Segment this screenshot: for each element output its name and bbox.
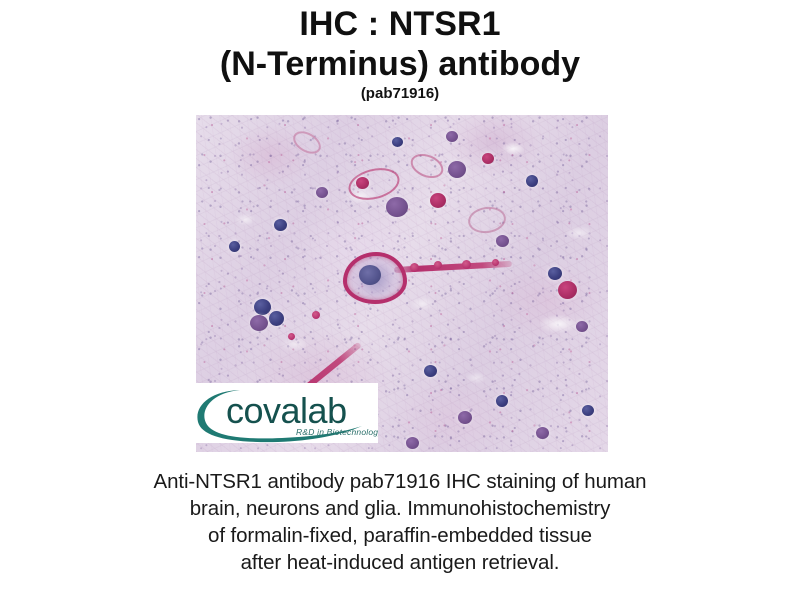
neuron-nucleus bbox=[359, 265, 381, 285]
glial-nucleus bbox=[250, 315, 268, 331]
covalab-logo: covalab R&D in Biotechnology bbox=[196, 383, 378, 443]
glial-nucleus bbox=[254, 299, 271, 315]
glial-nucleus bbox=[548, 267, 562, 280]
stained-soma bbox=[430, 193, 446, 208]
vessel-outline bbox=[407, 149, 447, 182]
glial-nucleus bbox=[406, 437, 419, 449]
covalab-logo-svg: covalab R&D in Biotechnology bbox=[196, 383, 378, 443]
glial-nucleus bbox=[446, 131, 458, 142]
stained-soma bbox=[558, 281, 577, 299]
caption-line-1: Anti-NTSR1 antibody pab71916 IHC stainin… bbox=[0, 468, 800, 495]
vessel-outline bbox=[345, 163, 403, 205]
glial-nucleus bbox=[496, 235, 509, 247]
stained-soma bbox=[482, 153, 494, 164]
glial-nucleus bbox=[576, 321, 588, 332]
glial-nucleus bbox=[526, 175, 538, 187]
stained-soma bbox=[356, 177, 369, 189]
neuron-axon bbox=[394, 261, 512, 273]
glial-nucleus bbox=[458, 411, 472, 424]
glial-nucleus bbox=[392, 137, 403, 147]
glial-nucleus bbox=[229, 241, 240, 252]
glial-nucleus bbox=[424, 365, 437, 377]
caption-line-2: brain, neurons and glia. Immunohistochem… bbox=[0, 495, 800, 522]
stained-soma bbox=[448, 161, 466, 178]
glial-nucleus bbox=[269, 311, 284, 326]
immunostained-neuron-soma bbox=[343, 252, 407, 304]
glial-nucleus bbox=[536, 427, 549, 439]
caption-line-4: after heat-induced antigen retrieval. bbox=[0, 549, 800, 576]
glial-nucleus bbox=[496, 395, 508, 407]
axon-varicosity bbox=[462, 260, 471, 269]
page-title-line-2: (N-Terminus) antibody bbox=[0, 44, 800, 84]
glial-nucleus bbox=[316, 187, 328, 198]
logo-tagline: R&D in Biotechnology bbox=[296, 427, 378, 437]
catalog-code: (pab71916) bbox=[0, 85, 800, 103]
axon-varicosity bbox=[434, 261, 442, 269]
figure-caption: Anti-NTSR1 antibody pab71916 IHC stainin… bbox=[0, 468, 800, 576]
vessel-outline bbox=[466, 204, 507, 235]
axon-varicosity bbox=[410, 263, 419, 272]
glial-nucleus bbox=[274, 219, 287, 231]
dendrite-varicosity bbox=[312, 311, 320, 319]
dendrite-varicosity bbox=[288, 333, 295, 340]
vessel-outline bbox=[289, 127, 324, 158]
title-block: IHC : NTSR1 (N-Terminus) antibody (pab71… bbox=[0, 0, 800, 103]
caption-line-3: of formalin-fixed, paraffin-embedded tis… bbox=[0, 522, 800, 549]
stained-soma bbox=[386, 197, 408, 217]
logo-wordmark: covalab bbox=[226, 390, 347, 431]
glial-nucleus bbox=[582, 405, 594, 416]
page-title-line-1: IHC : NTSR1 bbox=[0, 4, 800, 44]
axon-varicosity bbox=[492, 259, 499, 266]
micrograph-image: covalab R&D in Biotechnology bbox=[196, 115, 608, 452]
